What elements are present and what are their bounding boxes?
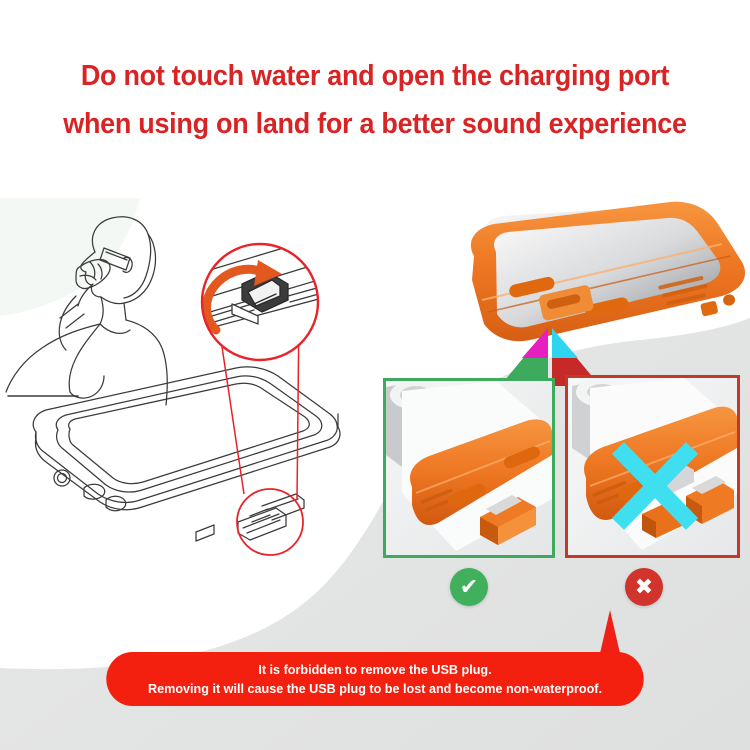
port-callout-circle xyxy=(237,489,303,555)
cross-icon: ✖ xyxy=(635,576,653,598)
instruction-graphic: Do not touch water and open the charging… xyxy=(0,0,750,750)
headline-line-1: Do not touch water and open the charging… xyxy=(81,60,669,92)
left-illustration xyxy=(0,200,400,620)
right-photo-composition: ✔ ✖ xyxy=(370,200,750,630)
phone-case-lineart xyxy=(33,367,340,541)
warning-banner: It is forbidden to remove the USB plug. … xyxy=(106,652,643,706)
correct-usage-photo xyxy=(383,378,555,558)
page-title: Do not touch water and open the charging… xyxy=(26,52,724,148)
pointer-right-tip xyxy=(552,328,578,358)
incorrect-usage-photo xyxy=(565,375,740,558)
status-badge-incorrect: ✖ xyxy=(625,568,663,606)
banner-line-1: It is forbidden to remove the USB plug. xyxy=(258,660,491,679)
status-badge-correct: ✔ xyxy=(450,568,488,606)
magnifier-detail xyxy=(195,234,332,360)
banner-line-2: Removing it will cause the USB plug to b… xyxy=(148,679,602,698)
check-icon: ✔ xyxy=(460,576,478,598)
pointer-left-tip xyxy=(522,328,548,358)
person-lineart xyxy=(6,217,167,405)
headline-line-2: when using on land for a better sound ex… xyxy=(26,100,724,148)
